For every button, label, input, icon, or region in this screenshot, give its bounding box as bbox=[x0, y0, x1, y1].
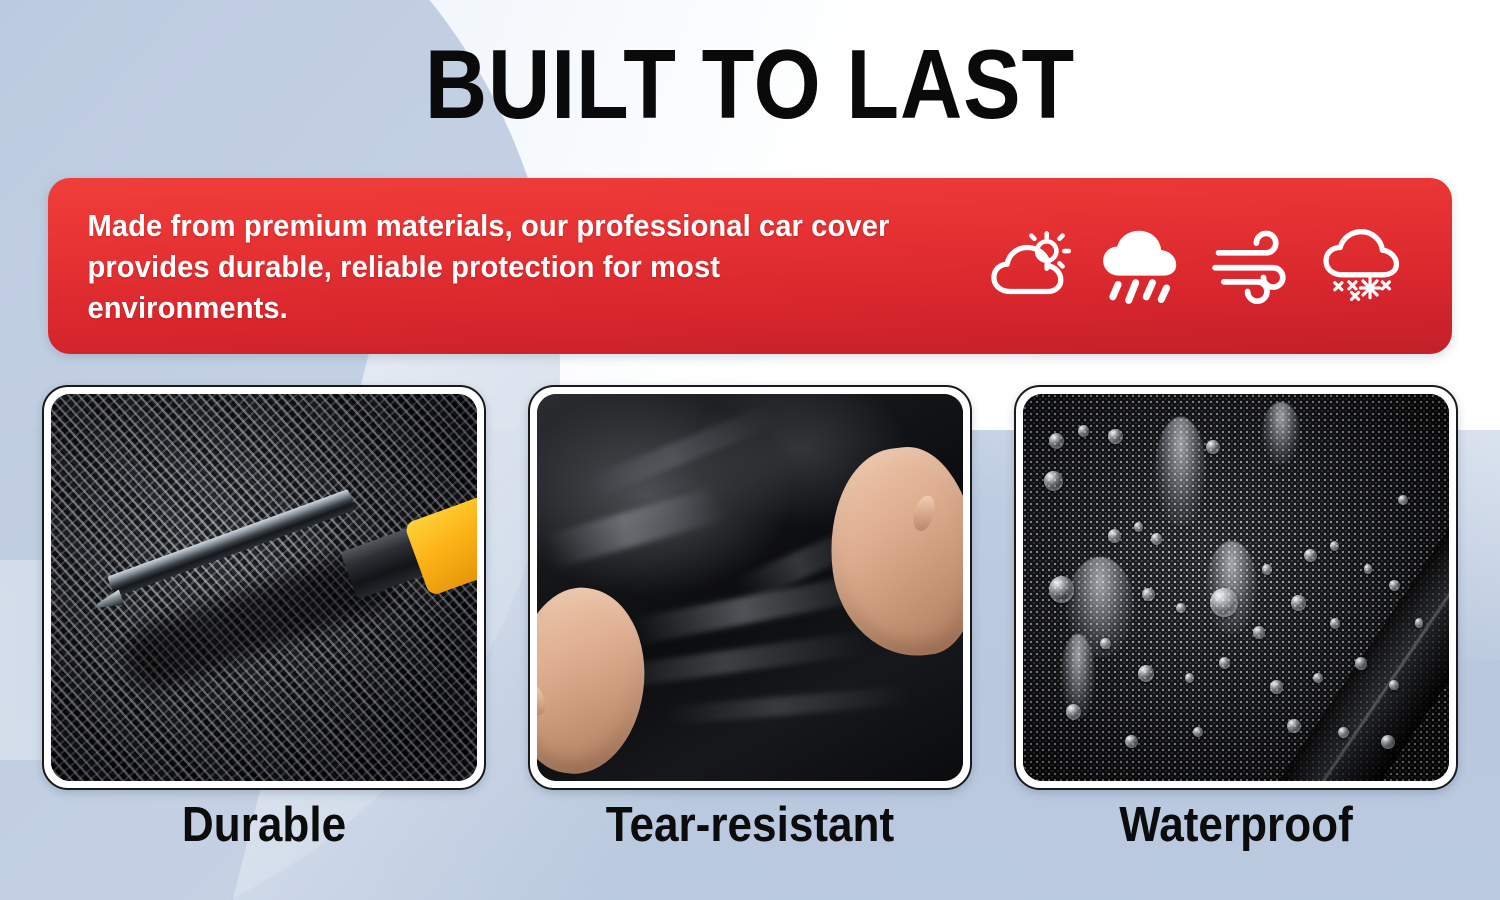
sun-cloud-icon bbox=[986, 226, 1074, 306]
snow-cloud-icon bbox=[1319, 226, 1407, 306]
water-droplet bbox=[1078, 425, 1089, 437]
weather-icon-row bbox=[968, 226, 1452, 306]
water-droplet bbox=[1151, 533, 1162, 545]
water-droplet bbox=[1355, 657, 1367, 669]
feature-panel-waterproof[interactable] bbox=[1014, 385, 1458, 790]
water-droplet bbox=[1049, 433, 1064, 449]
water-droplet bbox=[1044, 471, 1063, 490]
feature-panel-tear-resistant[interactable] bbox=[528, 385, 972, 790]
water-droplet bbox=[1193, 727, 1202, 737]
hands-stretching-material-photo bbox=[537, 394, 963, 781]
water-droplet bbox=[1415, 618, 1424, 627]
caption-tear-resistant: Tear-resistant bbox=[550, 792, 950, 872]
feature-banner: Made from premium materials, our profess… bbox=[48, 178, 1452, 354]
feature-captions: Durable Tear-resistant Waterproof bbox=[42, 792, 1458, 872]
caption-waterproof: Waterproof bbox=[1036, 792, 1436, 872]
water-droplet bbox=[1125, 735, 1138, 748]
water-smear bbox=[1206, 541, 1257, 634]
water-droplet bbox=[1142, 588, 1155, 601]
banner-description: Made from premium materials, our profess… bbox=[48, 205, 913, 328]
water-droplet bbox=[1100, 638, 1111, 650]
water-droplet bbox=[1291, 595, 1305, 610]
rain-cloud-icon bbox=[1097, 226, 1185, 306]
water-droplet bbox=[1253, 626, 1265, 638]
wind-icon bbox=[1208, 226, 1296, 306]
water-smear bbox=[1155, 417, 1206, 525]
water-droplet bbox=[1210, 588, 1237, 617]
left-thumb bbox=[537, 682, 548, 718]
water-droplet bbox=[1304, 549, 1317, 562]
water-droplet bbox=[1287, 719, 1301, 733]
water-droplet bbox=[1185, 673, 1194, 683]
water-droplet bbox=[1176, 603, 1185, 613]
water-droplet bbox=[1330, 541, 1339, 551]
water-beading-photo bbox=[1023, 394, 1449, 781]
water-droplet bbox=[1219, 657, 1230, 669]
water-smear bbox=[1262, 402, 1300, 464]
water-droplet bbox=[1066, 704, 1081, 720]
water-droplet bbox=[1364, 564, 1373, 573]
caption-durable: Durable bbox=[64, 792, 464, 872]
feature-panel-durable[interactable] bbox=[42, 385, 486, 790]
right-thumb bbox=[910, 494, 938, 533]
feature-panels bbox=[42, 385, 1458, 790]
water-droplet bbox=[1138, 665, 1154, 682]
water-droplet bbox=[1049, 576, 1075, 603]
water-droplet bbox=[1108, 429, 1122, 444]
infographic-content: BUILT TO LAST Made from premium material… bbox=[0, 0, 1500, 900]
water-droplet bbox=[1134, 522, 1143, 532]
page-title: BUILT TO LAST bbox=[90, 34, 1410, 134]
water-droplet bbox=[1262, 564, 1272, 575]
fabric-screwdriver-photo bbox=[51, 394, 477, 781]
water-droplet bbox=[1270, 680, 1283, 693]
